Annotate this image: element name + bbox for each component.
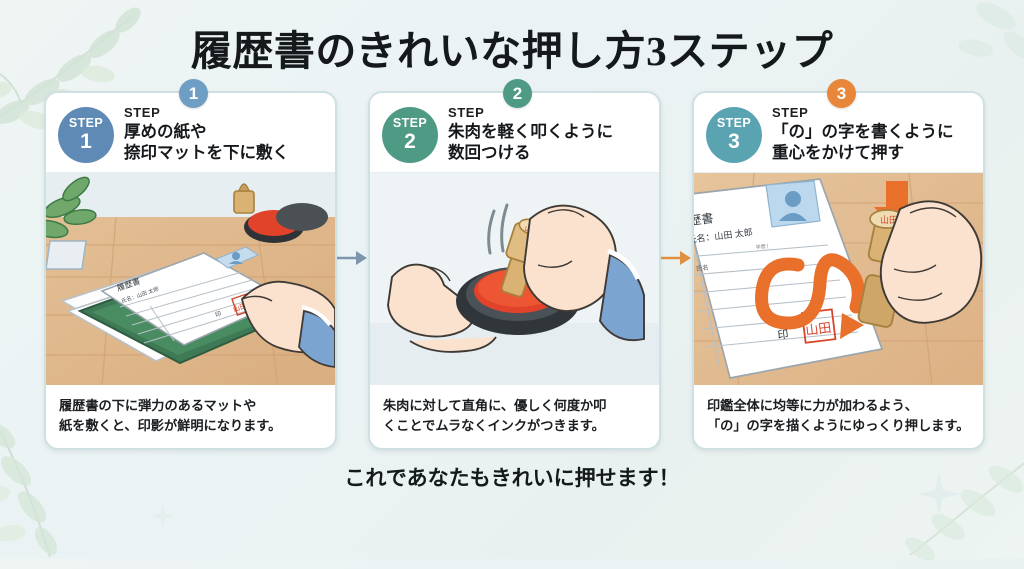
step-number-tab-1: 1: [179, 79, 208, 108]
arrow-step2-to-step3: [661, 247, 692, 269]
hand: [881, 202, 981, 323]
step-badge-3: STEP 3: [706, 107, 762, 163]
step-heading-3: STEP 「の」の字を書くように 重心をかけて押す: [772, 105, 973, 164]
step-headline-2: 朱肉を軽く叩くように 数回つける: [448, 122, 649, 164]
step-headline-line1-3: 「の」の字を書くように: [772, 122, 973, 143]
step-headline-line1-1: 厚めの紙や: [124, 122, 325, 143]
step-headline-line2-1: 捺印マットを下に敷く: [124, 143, 325, 164]
step-card-1[interactable]: 1 STEP 1 STEP 厚めの紙や 捺印マットを下に敷く: [44, 91, 337, 450]
step-kicker-3: STEP: [772, 105, 973, 120]
step-kicker-1: STEP: [124, 105, 325, 120]
step-headline-line1-2: 朱肉を軽く叩くように: [448, 122, 649, 143]
step-caption-line1-2: 朱肉に対して直角に、優しく何度か叩: [383, 396, 647, 416]
step-caption-2: 朱肉に対して直角に、優しく何度か叩 くことでムラなくインクがつきます。: [370, 385, 659, 448]
step-heading-1: STEP 厚めの紙や 捺印マットを下に敷く: [124, 105, 325, 164]
step-caption-1: 履歴書の下に弾力のあるマットや 紙を敷くと、印影が鮮明になります。: [46, 385, 335, 448]
step-caption-line1-3: 印鑑全体に均等に力が加わるよう、: [707, 396, 971, 416]
step-headline-line2-3: 重心をかけて押す: [772, 143, 973, 164]
step-caption-line1-1: 履歴書の下に弾力のあるマットや: [59, 396, 323, 416]
steps-container: 1 STEP 1 STEP 厚めの紙や 捺印マットを下に敷く: [0, 77, 1024, 450]
arrow-step1-to-step2: [337, 247, 368, 269]
step-heading-2: STEP 朱肉を軽く叩くように 数回つける: [448, 105, 649, 164]
step-caption-line2-2: くことでムラなくインクがつきます。: [383, 416, 647, 436]
step-badge-number-1: 1: [80, 131, 92, 152]
step-illustration-2: 山田: [370, 172, 659, 385]
title-section: 履歴書のきれいな押し方3ステップ: [0, 0, 1024, 77]
step-badge-word-2: STEP: [393, 117, 427, 130]
step-badge-2: STEP 2: [382, 107, 438, 163]
step-badge-word-3: STEP: [717, 117, 751, 130]
step-badge-1: STEP 1: [58, 107, 114, 163]
svg-text:印: 印: [777, 328, 790, 342]
footer-text: これであなたもきれいに押せます！: [0, 462, 1024, 492]
step-number-tab-2: 2: [503, 79, 532, 108]
page-title: 履歴書のきれいな押し方3ステップ: [0, 17, 1024, 77]
step-badge-word-1: STEP: [69, 117, 103, 130]
step-headline-line2-2: 数回つける: [448, 143, 649, 164]
step-caption-line2-3: 「の」の字を描くようにゆっくり押します。: [707, 416, 971, 436]
step-kicker-2: STEP: [448, 105, 649, 120]
step-card-3[interactable]: 3 STEP 3 STEP 「の」の字を書くように 重心をかけて押す: [692, 91, 985, 450]
sparkle-small-icon: [150, 503, 176, 529]
step-headline-1: 厚めの紙や 捺印マットを下に敷く: [124, 122, 325, 164]
step-illustration-3: 歴書 氏名：山田 太郎 学歴 |: [694, 172, 983, 385]
step-card-2[interactable]: 2 STEP 2 STEP 朱肉を軽く叩くように 数回つける: [368, 91, 661, 450]
step-badge-number-2: 2: [404, 131, 416, 152]
leaf-branch-bottom-right: [870, 439, 1024, 569]
step-caption-3: 印鑑全体に均等に力が加わるよう、 「の」の字を描くようにゆっくり押します。: [694, 385, 983, 448]
step-caption-line2-1: 紙を敷くと、印影が鮮明になります。: [59, 416, 323, 436]
step-number-tab-3: 3: [827, 79, 856, 108]
footer-section: これであなたもきれいに押せます！: [0, 462, 1024, 492]
step-headline-3: 「の」の字を書くように 重心をかけて押す: [772, 122, 973, 164]
step-badge-number-3: 3: [728, 131, 740, 152]
step-illustration-1: 履歴書 氏名：山田 太郎 山田 印: [46, 172, 335, 385]
